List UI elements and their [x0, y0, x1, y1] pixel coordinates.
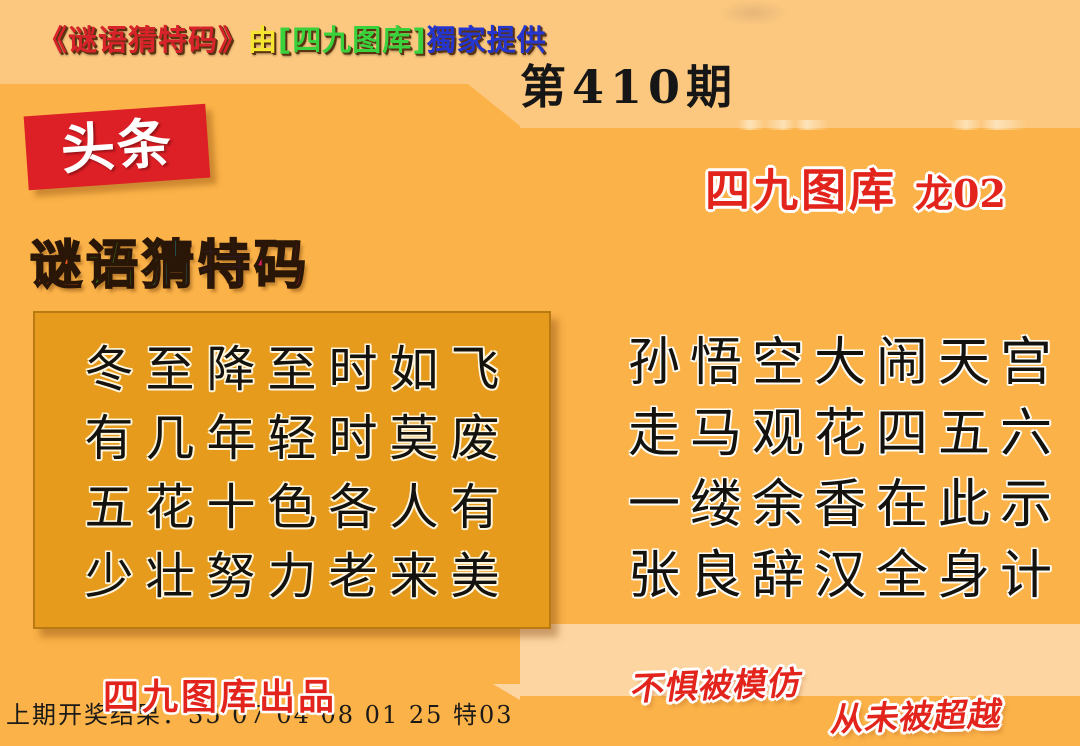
riddle-line: 走马观花四五六: [612, 399, 1068, 470]
poem-line: 五花十色各人有: [35, 473, 549, 542]
rainbow-char-5: 码: [254, 240, 310, 292]
poem-line: 少壮努力老来美: [35, 542, 549, 611]
header-by-text: 由: [248, 26, 278, 55]
riddle-line: 张良辞汉全身计: [612, 541, 1068, 612]
brand-name: 四九图库: [705, 168, 897, 213]
rainbow-char-2: 语: [86, 240, 142, 292]
header-source-text: 四九图库: [292, 26, 412, 55]
slogan-right: 从未被超越: [829, 697, 1005, 736]
slogan-left: 不惧被模仿: [629, 666, 805, 705]
riddle-line: 一缕余香在此示: [612, 470, 1068, 541]
header-exclusive-text: 獨家提供: [427, 26, 547, 55]
headline-badge: 头条: [24, 104, 211, 191]
poem-line: 有几年轻时莫废: [35, 404, 549, 473]
poem-box: 冬至降至时如飞 有几年轻时莫废 五花十色各人有 少壮努力老来美: [33, 311, 551, 629]
poster-canvas: 《谜语猜特码》由[四九图库]獨家提供 第410期 头条 谜语猜特码 冬至降至时如…: [0, 0, 1080, 746]
brand-code: 龙02: [915, 175, 1006, 213]
header-tagline: 《谜语猜特码》由[四九图库]獨家提供: [38, 26, 547, 55]
rainbow-char-3: 猜: [142, 240, 198, 292]
poem-line: 冬至降至时如飞: [35, 335, 549, 404]
rainbow-char-1: 谜: [30, 240, 86, 292]
riddle-block: 孙悟空大闹天宫 走马观花四五六 一缕余香在此示 张良辞汉全身计: [612, 328, 1068, 612]
header-bracket-close: ]: [412, 26, 426, 55]
headline-badge-label: 头条: [59, 116, 174, 178]
riddle-line: 孙悟空大闹天宫: [612, 328, 1068, 399]
produced-by-label: 四九图库出品: [103, 679, 337, 715]
header-bracket-open: [: [278, 26, 292, 55]
issue-number: 第410期: [520, 64, 738, 110]
header-title-text: 《谜语猜特码》: [38, 26, 248, 55]
rainbow-title: 谜语猜特码: [30, 240, 310, 292]
rainbow-char-4: 特: [198, 240, 254, 292]
